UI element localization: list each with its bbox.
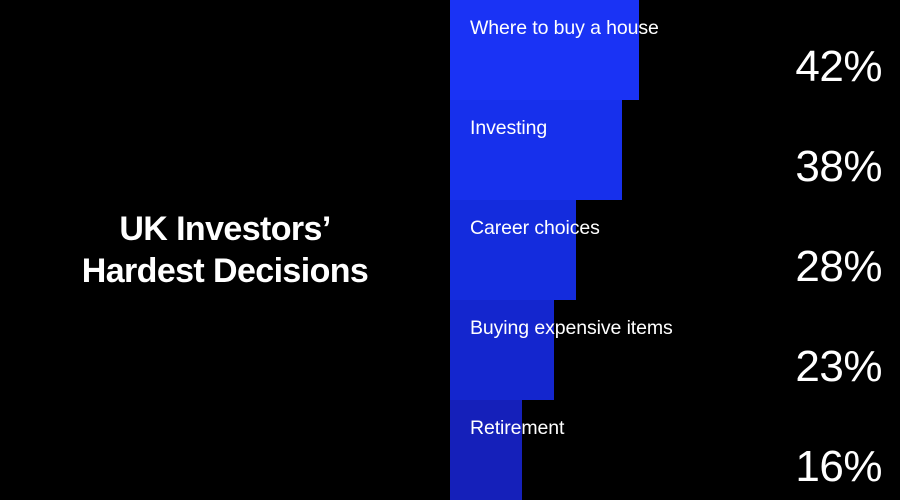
chart-row: Investing 38% [0,100,900,200]
bar-value: 42% [795,42,882,92]
bar-label: Career choices [470,215,600,241]
bar-label: Retirement [470,415,564,441]
bar-label: Where to buy a house [470,15,659,41]
bar-value: 23% [795,342,882,392]
infographic-canvas: UK Investors’ Hardest Decisions Where to… [0,0,900,500]
bar-label: Buying expensive items [470,315,673,341]
bar-value: 28% [795,242,882,292]
horizontal-bar-chart: Where to buy a house 42% Investing 38% C… [0,0,900,500]
bar-label: Investing [470,115,547,141]
chart-row: Where to buy a house 42% [0,0,900,100]
chart-row: Career choices 28% [0,200,900,300]
bar-value: 16% [795,442,882,492]
chart-row: Buying expensive items 23% [0,300,900,400]
chart-row: Retirement 16% [0,400,900,500]
bar-value: 38% [795,142,882,192]
